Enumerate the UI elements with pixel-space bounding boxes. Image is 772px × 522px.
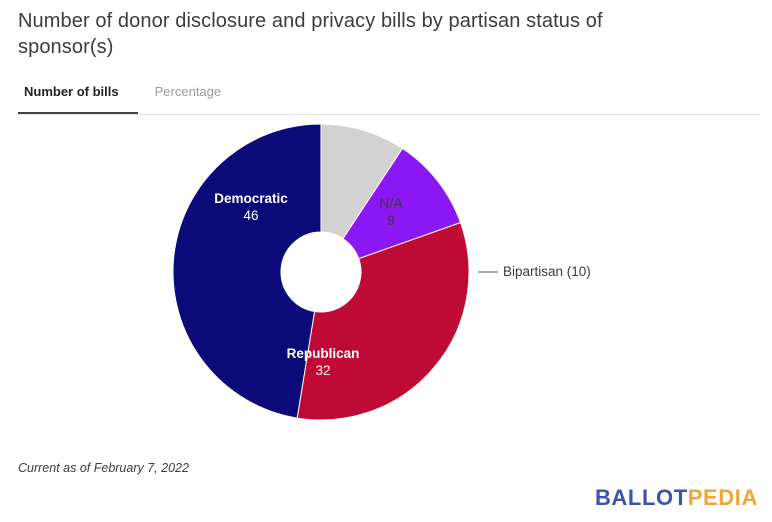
donut-slice-democratic[interactable] (173, 124, 321, 418)
logo-ballot-text: BALLOT (595, 485, 688, 510)
page-title: Number of donor disclosure and privacy b… (18, 8, 698, 60)
logo-pedia-text: PEDIA (688, 485, 758, 510)
donut-chart: Democratic 46 N/A 9 Republican 32 Bipart… (0, 118, 772, 448)
donut-slice-republican[interactable] (297, 223, 469, 420)
donut-chart-svg (0, 118, 772, 448)
donut-slice-group (173, 124, 469, 420)
tab-percentage[interactable]: Percentage (149, 84, 228, 109)
slice-label-bipartisan: Bipartisan (10) (503, 264, 591, 279)
footnote-current-as-of: Current as of February 7, 2022 (18, 461, 189, 475)
tab-divider (18, 114, 760, 115)
tab-number-of-bills[interactable]: Number of bills (18, 84, 125, 109)
tab-bar: Number of bills Percentage (18, 84, 227, 109)
ballotpedia-logo: BALLOTPEDIA (595, 485, 758, 511)
